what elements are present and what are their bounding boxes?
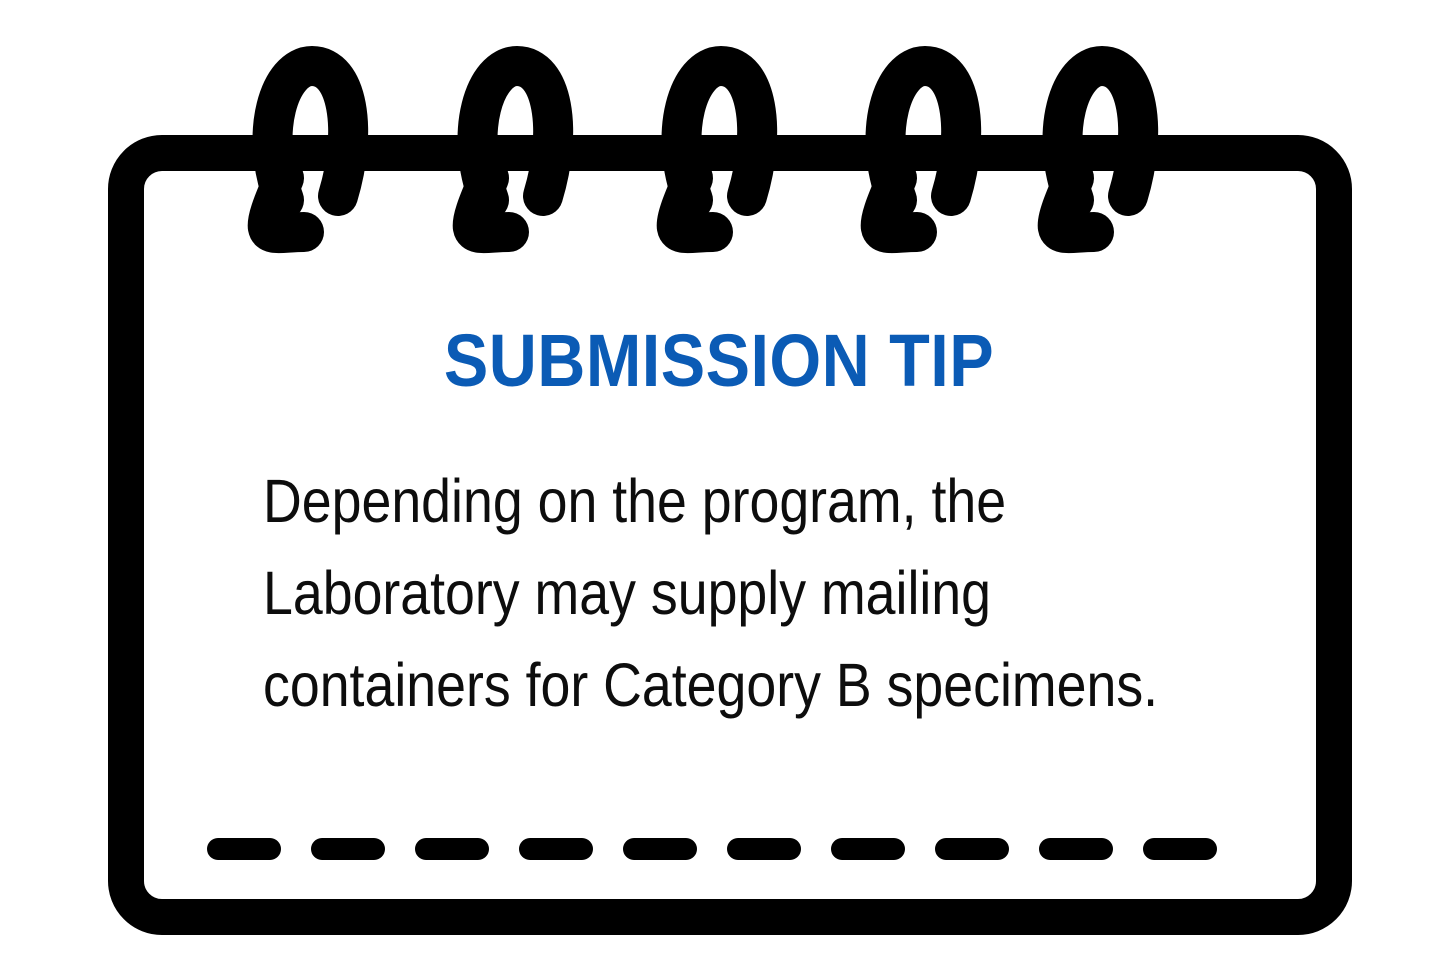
notepad-callout-card: SUBMISSION TIP Depending on the program,… bbox=[0, 0, 1438, 979]
notepad-graphic bbox=[0, 0, 1438, 979]
notepad-paper bbox=[126, 153, 1334, 917]
